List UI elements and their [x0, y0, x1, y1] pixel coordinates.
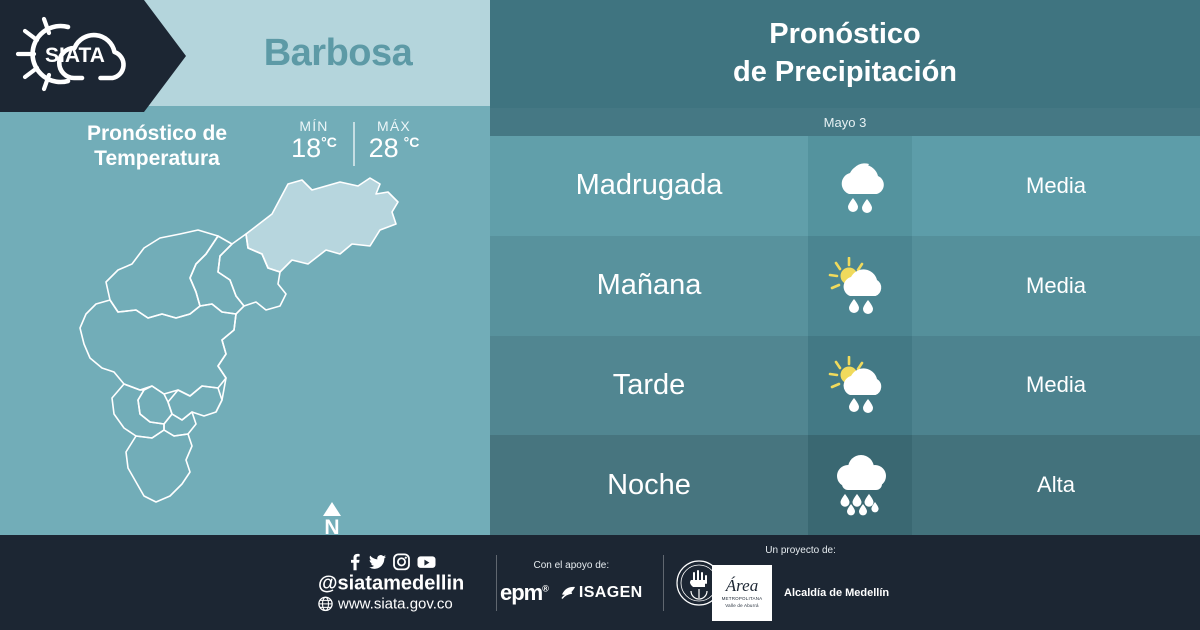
- isagen-leaf-icon: [561, 586, 576, 600]
- temperature-min-unit: °C: [321, 134, 337, 150]
- sun-cloud-icon: SIATA: [12, 12, 138, 96]
- temperature-min-value-wrap: 18°C: [291, 133, 337, 163]
- forecast-period: Madrugada: [490, 136, 808, 236]
- siata-logo-text: SIATA: [45, 44, 105, 67]
- precipitation-level: Media: [912, 336, 1200, 436]
- compass-north: N: [317, 502, 347, 538]
- footer-social-block: @siatamedellin www.siata.gov.co: [318, 553, 464, 612]
- temperature-max-value-wrap: 28°C: [369, 133, 420, 163]
- precipitation-level: Media: [912, 136, 1200, 236]
- precipitation-header: Pronóstico de Precipitación: [490, 0, 1200, 108]
- precipitation-level: Media: [912, 236, 1200, 336]
- forecast-rows: Madrugada Media Mañana: [490, 136, 1200, 535]
- facebook-icon[interactable]: [347, 553, 362, 570]
- cloud-heavy-rain-icon: [808, 435, 912, 535]
- map-region-caldas: [126, 430, 192, 502]
- precipitation-title-line1: Pronóstico: [769, 16, 920, 54]
- city-name: Barbosa: [186, 0, 490, 106]
- epm-logo[interactable]: epm®: [500, 580, 548, 606]
- left-panel: SIATA Barbosa Pronóstico de Temperatura …: [0, 0, 490, 535]
- alcaldia-label[interactable]: Alcaldía de Medellín: [784, 587, 889, 599]
- temperature-min-label: MÍN: [275, 118, 353, 134]
- temperature-max: MÁX 28°C: [355, 118, 433, 162]
- precipitation-level: Alta: [912, 435, 1200, 535]
- forecast-period: Noche: [490, 435, 808, 535]
- temperature-max-label: MÁX: [355, 118, 433, 134]
- map-region-barbosa: [246, 178, 398, 272]
- epm-logo-text: epm: [500, 580, 542, 605]
- isagen-logo-text: ISAGEN: [579, 584, 643, 602]
- website-line[interactable]: www.siata.gov.co: [318, 595, 464, 612]
- footer-project-block: Un proyecto de: Área METROPOLITANA Valle…: [712, 545, 889, 621]
- twitter-icon[interactable]: [369, 553, 386, 570]
- map-region-copacabana: [190, 236, 244, 314]
- right-panel: Pronóstico de Precipitación Mayo 3 Madru…: [490, 0, 1200, 535]
- aburra-valley-map[interactable]: N: [40, 172, 460, 532]
- table-row[interactable]: Tarde: [490, 336, 1200, 436]
- precipitation-title-line2: de Precipitación: [733, 54, 957, 92]
- weather-forecast-poster: SIATA Barbosa Pronóstico de Temperatura …: [0, 0, 1200, 630]
- moon-cloud-rain-icon: [808, 136, 912, 236]
- footer-bar: @siatamedellin www.siata.gov.co Con el a…: [0, 535, 1200, 630]
- support-caption: Con el apoyo de:: [500, 560, 643, 571]
- map-region-east-edge: [216, 314, 236, 412]
- social-icons: [318, 553, 464, 570]
- map-svg: [40, 172, 460, 532]
- temperature-title-line2: Temperatura: [94, 147, 220, 170]
- footer-divider-2: [663, 555, 664, 611]
- project-caption: Un proyecto de:: [712, 545, 889, 556]
- isagen-logo[interactable]: ISAGEN: [561, 584, 643, 602]
- map-region-medellin: [80, 300, 236, 396]
- universidad-de-antioquia-seal-icon[interactable]: [676, 560, 722, 606]
- map-region-bello: [106, 230, 218, 318]
- forecast-date: Mayo 3: [490, 108, 1200, 136]
- instagram-icon[interactable]: [393, 553, 410, 570]
- forecast-period: Mañana: [490, 236, 808, 336]
- footer-support-block: Con el apoyo de: epm® ISAGEN: [500, 560, 643, 606]
- area-logo-script: Área: [726, 577, 758, 594]
- project-logos: Área METROPOLITANA Valle de Aburrá Alcal…: [712, 565, 889, 621]
- temperature-max-value: 28: [369, 133, 399, 163]
- support-logos: epm® ISAGEN: [500, 580, 643, 606]
- area-logo-sub2: Valle de Aburrá: [725, 603, 758, 608]
- website-url: www.siata.gov.co: [338, 595, 453, 612]
- globe-icon: [318, 596, 333, 611]
- compass-arrow-icon: [323, 502, 341, 516]
- temperature-min: MÍN 18°C: [275, 118, 353, 162]
- sun-cloud-rain-icon: [808, 236, 912, 336]
- table-row[interactable]: Madrugada Media: [490, 136, 1200, 236]
- table-row[interactable]: Mañana: [490, 236, 1200, 336]
- temperature-values: MÍN 18°C MÁX 28°C: [275, 118, 433, 166]
- temperature-title-line1: Pronóstico de: [87, 122, 227, 145]
- map-region-la-estrella: [112, 384, 164, 438]
- temperature-title: Pronóstico de Temperatura: [57, 118, 257, 172]
- temperature-min-value: 18: [291, 133, 321, 163]
- forecast-period: Tarde: [490, 336, 808, 436]
- social-handle[interactable]: @siatamedellin: [318, 572, 464, 595]
- sun-cloud-rain-icon: [808, 336, 912, 436]
- youtube-icon[interactable]: [417, 553, 436, 570]
- footer-divider-1: [496, 555, 497, 611]
- map-region-envigado: [168, 386, 222, 420]
- area-logo-sub1: METROPOLITANA: [722, 596, 763, 601]
- temperature-max-unit: °C: [404, 134, 420, 150]
- table-row[interactable]: Noche: [490, 435, 1200, 535]
